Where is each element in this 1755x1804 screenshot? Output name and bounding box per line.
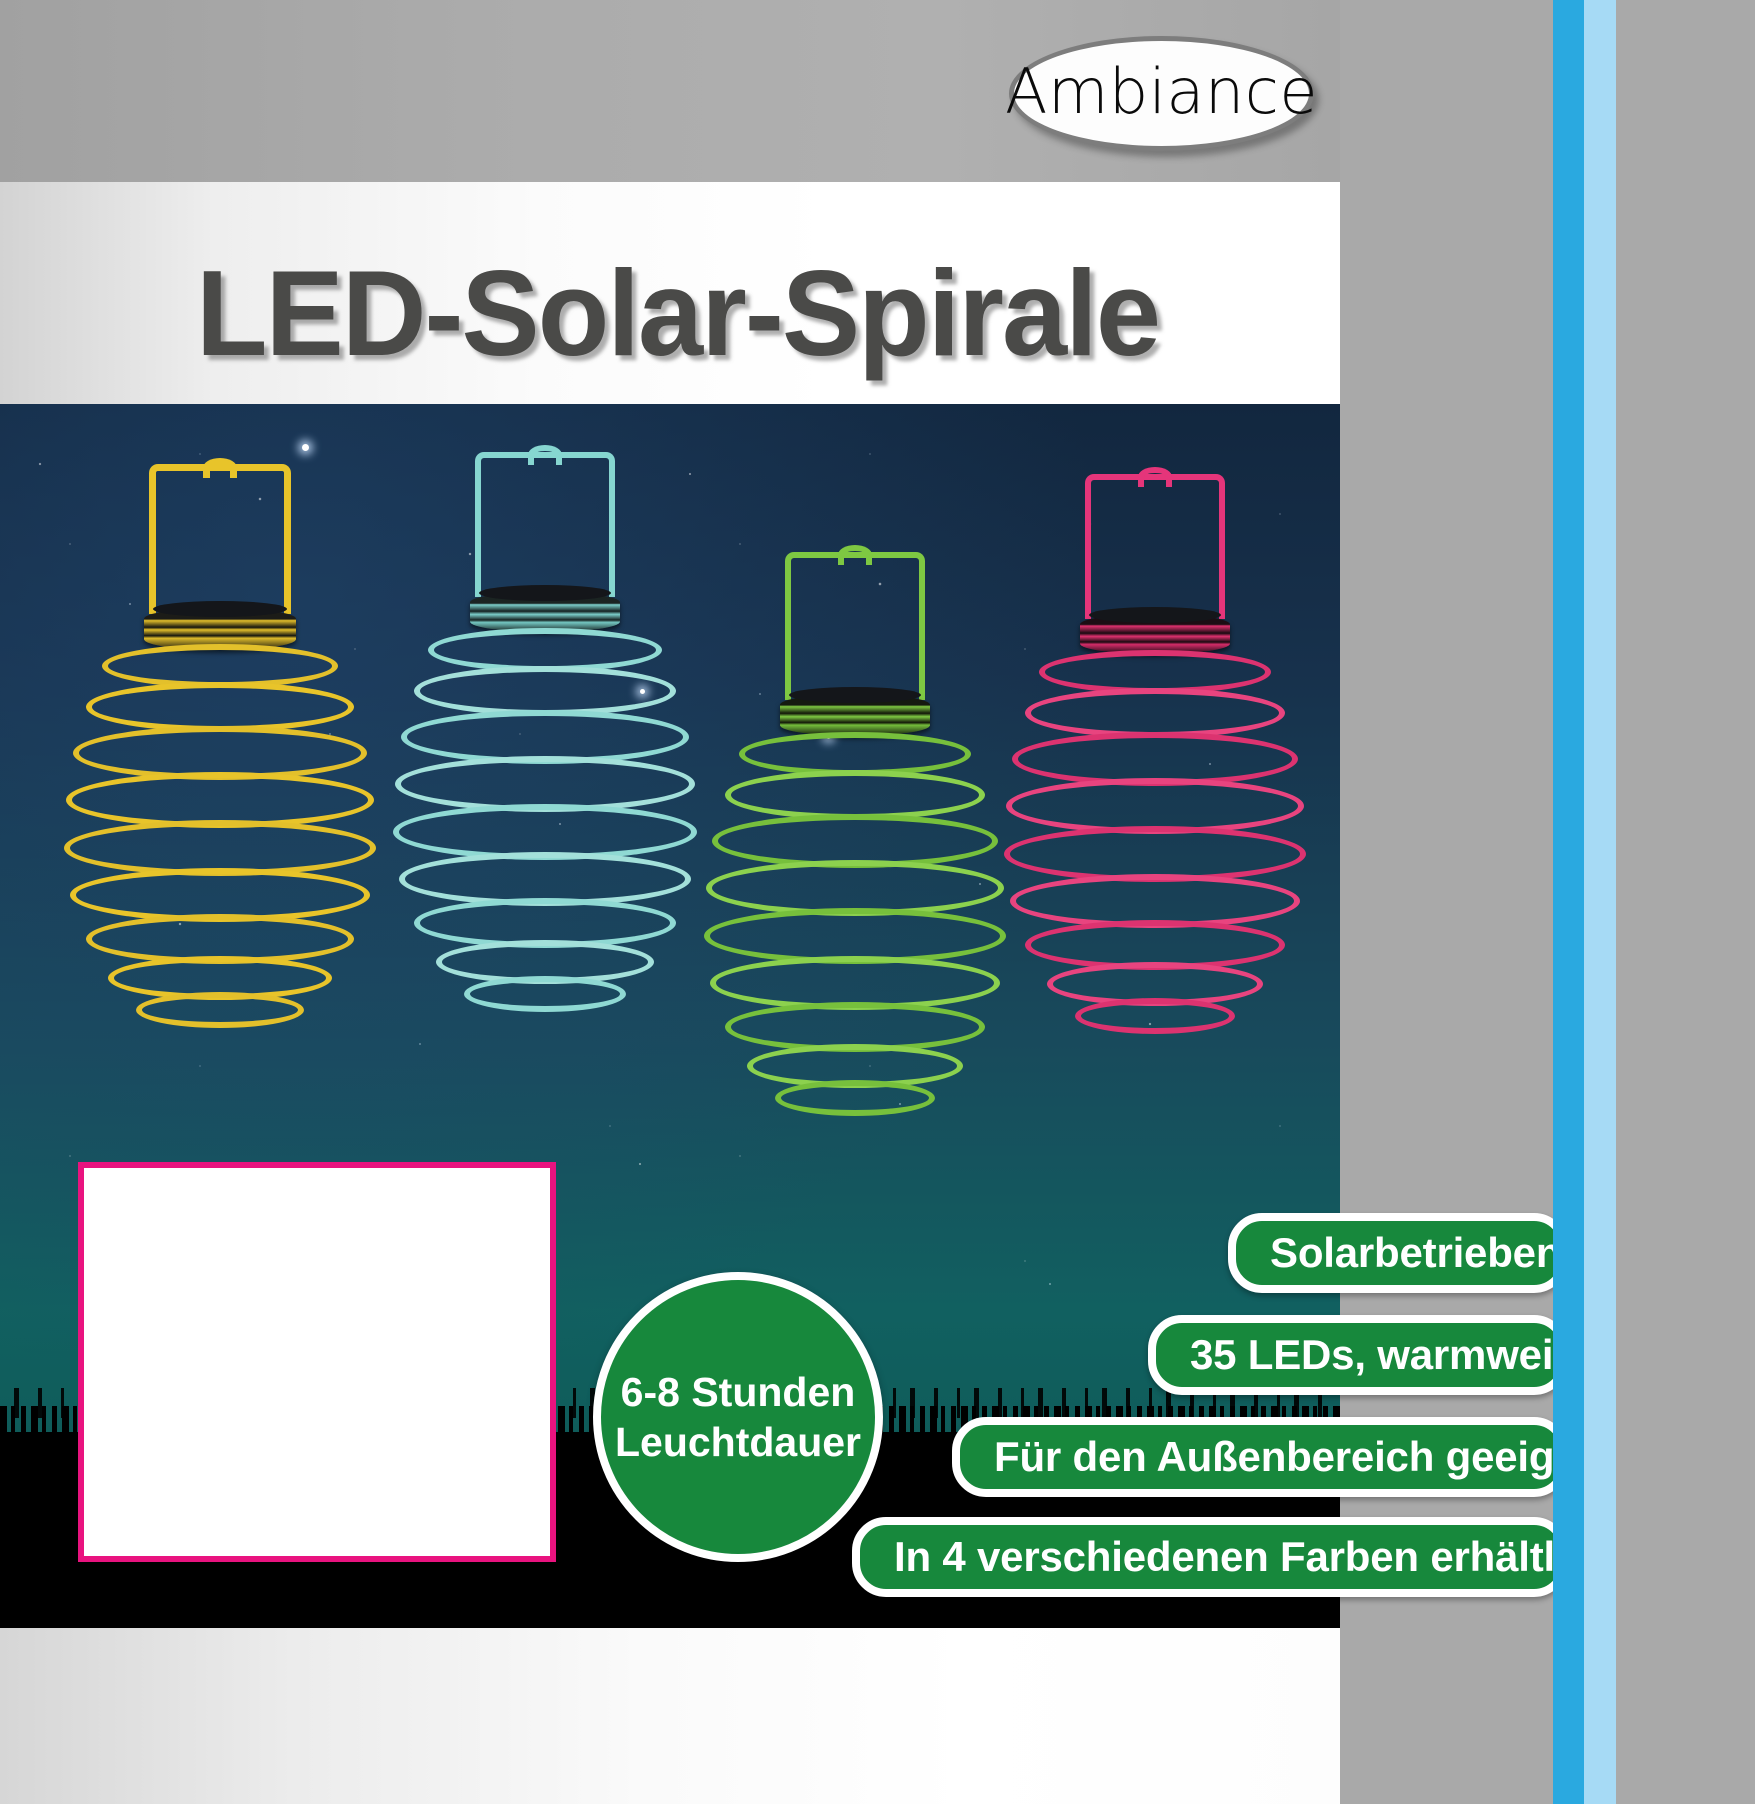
- badge-color-variants-label: In 4 verschiedenen Farben erhältlich: [894, 1533, 1568, 1581]
- badge-solar-powered: Solarbetrieben: [1228, 1213, 1568, 1293]
- badge-solar-powered-label: Solarbetrieben: [1270, 1229, 1561, 1277]
- lamp-handle-icon: [149, 464, 291, 614]
- lamp-handle-notch-icon: [203, 458, 237, 478]
- lamp-cap-top: [1089, 607, 1221, 623]
- footer-band: [0, 1628, 1340, 1804]
- lamp-handle-icon: [785, 552, 925, 700]
- lamp-solar-cap: [470, 592, 620, 632]
- header-band-right-margin: [1340, 0, 1553, 182]
- lamp-coil: [725, 770, 985, 820]
- lamp-cap-top: [789, 687, 921, 703]
- badge-led-count: 35 LEDs, warmweiß: [1148, 1315, 1568, 1395]
- badge-duration-line1: 6-8 Stunden: [621, 1367, 856, 1417]
- lamp-coil: [86, 682, 354, 732]
- lamp-handle-notch-icon: [1138, 467, 1172, 487]
- lamp-handle-notch-icon: [528, 445, 562, 465]
- spiral-lamp-yellow: [60, 464, 380, 1024]
- brand-name: Ambiance: [1005, 61, 1318, 123]
- lamp-handle-notch-icon: [838, 545, 872, 565]
- footer-right-margin: [1340, 1628, 1553, 1804]
- badge-outdoor-use-label: Für den Außenbereich geeignet: [994, 1433, 1568, 1481]
- lamp-solar-cap: [1080, 614, 1230, 654]
- spiral-lamp-green: [700, 552, 1010, 1112]
- lamp-coil: [464, 976, 626, 1012]
- lamp-coil: [136, 992, 304, 1028]
- edge-strip-blue-light: [1584, 0, 1616, 1804]
- bright-star-icon: [302, 444, 309, 451]
- lamp-coil: [414, 666, 676, 716]
- badge-outdoor-use: Für den Außenbereich geeignet: [952, 1417, 1568, 1497]
- lamp-coil: [775, 1080, 935, 1116]
- page-title: LED-Solar-Spirale: [196, 243, 1252, 383]
- package-artwork: Ambiance LED-Solar-Spirale: [0, 0, 1755, 1804]
- lamp-cap-top: [153, 601, 287, 617]
- lamp-solar-cap: [780, 694, 930, 736]
- lamp-coil: [1025, 688, 1285, 738]
- edge-strip-blue-dark: [1553, 0, 1584, 1804]
- badge-color-variants: In 4 verschiedenen Farben erhältlich: [852, 1517, 1568, 1597]
- lamp-coil: [1075, 998, 1235, 1034]
- badge-duration-line2: Leuchtdauer: [615, 1417, 861, 1467]
- lamp-handle-icon: [475, 452, 615, 597]
- image-placeholder-box: [78, 1162, 556, 1562]
- brand-logo: Ambiance: [1009, 36, 1314, 151]
- spiral-lamp-turquoise: [390, 452, 700, 1012]
- lamp-handle-icon: [1085, 474, 1225, 619]
- badge-led-count-label: 35 LEDs, warmweiß: [1190, 1331, 1568, 1379]
- badge-duration: 6-8 Stunden Leuchtdauer: [593, 1272, 883, 1562]
- lamp-cap-top: [479, 585, 611, 601]
- spiral-lamp-pink: [1000, 474, 1310, 1034]
